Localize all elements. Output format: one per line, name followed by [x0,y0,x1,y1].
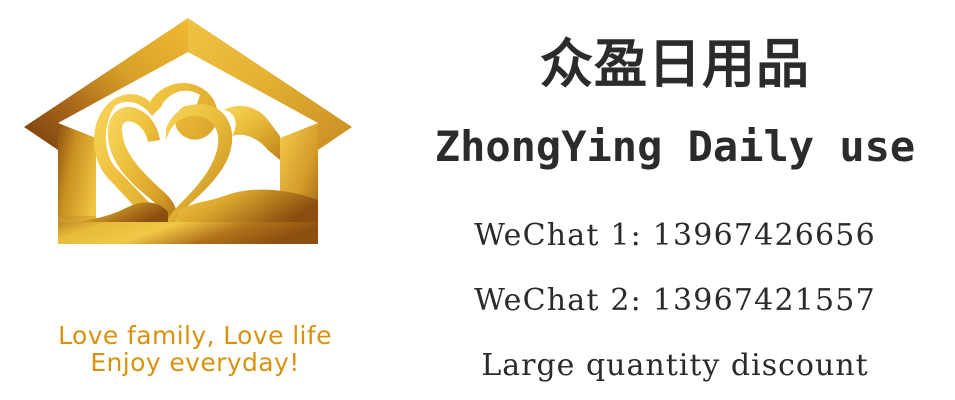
brand-name-english: ZhongYing Daily use [395,122,955,171]
logo-block: Love family, Love life Enjoy everyday! [0,0,395,400]
brand-name-chinese: 众盈日用品 [395,22,955,98]
wechat-contact-1: WeChat 1: 13967426656 [395,218,955,253]
info-block: 众盈日用品 ZhongYing Daily use WeChat 1: 1396… [395,0,955,400]
tagline-line-2: Enjoy everyday! [0,349,390,376]
tagline: Love family, Love life Enjoy everyday! [0,322,390,376]
tagline-line-1: Love family, Love life [0,322,390,349]
discount-note: Large quantity discount [395,348,955,383]
wechat-contact-2: WeChat 2: 13967421557 [395,283,955,318]
house-with-heart-hands-logo [18,10,358,250]
store-banner: Love family, Love life Enjoy everyday! 众… [0,0,955,400]
